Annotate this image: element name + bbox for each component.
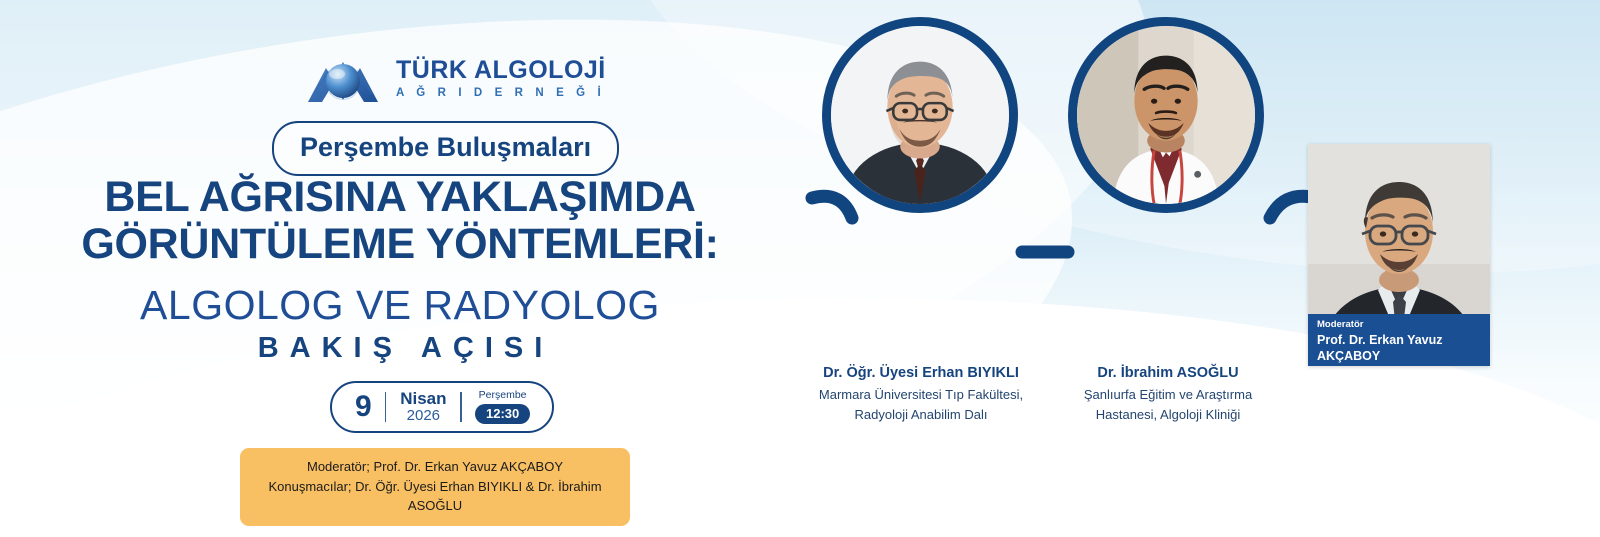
title-line-1: BEL AĞRISINA YAKLAŞIMDA <box>104 173 695 221</box>
moderator-caption-bar: Moderatör Prof. Dr. Erkan Yavuz AKÇABOY … <box>1308 314 1490 366</box>
speaker-avatar-1 <box>822 17 1018 213</box>
date-time-box: 9 Nisan 2026 Perşembe 12:30 <box>330 381 554 433</box>
title-kicker: BAKIŞ AÇISI <box>0 332 800 365</box>
date-time-badge: 12:30 <box>475 404 530 424</box>
speaker-caption-2: Dr. İbrahim ASOĞLU Şanlıurfa Eğitim ve A… <box>1028 364 1308 423</box>
date-day: 9 <box>346 392 385 422</box>
organization-logo: TÜRK ALGOLOJİ A Ğ R I D E R N E Ğ İ <box>300 48 606 110</box>
moderator-card: Moderatör Prof. Dr. Erkan Yavuz AKÇABOY … <box>1308 144 1490 366</box>
date-year: 2026 <box>407 408 440 424</box>
moderator-name: Prof. Dr. Erkan Yavuz AKÇABOY <box>1317 332 1482 365</box>
page-title: BEL AĞRISINA YAKLAŞIMDA GÖRÜNTÜLEME YÖNT… <box>0 176 800 267</box>
banner-left-column: TÜRK ALGOLOJİ A Ğ R I D E R N E Ğ İ Perş… <box>0 0 800 537</box>
date-month: Nisan <box>400 390 446 408</box>
title-subtitle: ALGOLOG VE RADYOLOG <box>0 282 800 329</box>
participants-info-box: Moderatör; Prof. Dr. Erkan Yavuz AKÇABOY… <box>240 448 630 526</box>
speaker-name-1: Dr. Öğr. Üyesi Erhan BIYIKLI <box>781 364 1061 384</box>
series-badge: Perşembe Buluşmaları <box>272 121 619 176</box>
moderator-affiliation: Bilkent Şehir Hastanesi, Algoloji Kliniğ… <box>1317 365 1482 366</box>
logo-main-text: TÜRK ALGOLOJİ <box>396 58 606 83</box>
date-divider-1 <box>385 392 387 422</box>
logo-sub-text: A Ğ R I D E R N E Ğ İ <box>396 88 606 100</box>
speaker-affiliation-2-line-1: Şanlıurfa Eğitim ve Araştırma <box>1028 386 1308 404</box>
speaker-photo-2 <box>1077 26 1255 204</box>
moderator-role: Moderatör <box>1317 319 1482 331</box>
speaker-caption-1: Dr. Öğr. Üyesi Erhan BIYIKLI Marmara Üni… <box>781 364 1061 423</box>
date-weekday: Perşembe <box>479 390 527 401</box>
date-divider-2 <box>460 392 462 422</box>
speaker-photo-1 <box>831 26 1009 204</box>
turk-algoloji-logo-icon <box>300 48 386 110</box>
event-banner: TÜRK ALGOLOJİ A Ğ R I D E R N E Ğ İ Perş… <box>0 0 1600 537</box>
moderator-info-line: Moderatör; Prof. Dr. Erkan Yavuz AKÇABOY <box>250 457 620 477</box>
speaker-affiliation-1-line-2: Radyoloji Anabilim Dalı <box>781 406 1061 424</box>
speaker-avatar-2 <box>1068 17 1264 213</box>
speakers-info-line: Konuşmacılar; Dr. Öğr. Üyesi Erhan BIYIK… <box>250 477 620 516</box>
speaker-affiliation-2-line-2: Hastanesi, Algoloji Kliniği <box>1028 406 1308 424</box>
date-weekday-time: Perşembe 12:30 <box>462 390 538 424</box>
speaker-affiliation-1-line-1: Marmara Üniversitesi Tıp Fakültesi, <box>781 386 1061 404</box>
date-month-year: Nisan 2026 <box>386 390 460 424</box>
title-line-2: GÖRÜNTÜLEME YÖNTEMLERİ: <box>0 223 800 267</box>
speaker-name-2: Dr. İbrahim ASOĞLU <box>1028 364 1308 384</box>
